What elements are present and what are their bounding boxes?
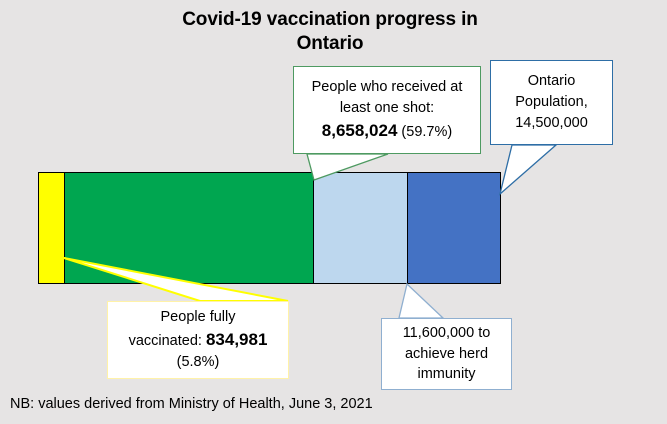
callout-herd-line-3: immunity — [417, 366, 475, 382]
callout-population-line-3: 14,500,000 — [515, 115, 588, 131]
callout-one-shot: People who received at least one shot: 8… — [293, 66, 481, 154]
bar-segment-remaining-population — [407, 172, 501, 284]
tail-herd-immunity — [399, 284, 443, 318]
tail-population — [500, 145, 556, 194]
callout-herd-line-1: 11,600,000 to — [403, 325, 491, 341]
callout-fully-line-2-prefix: vaccinated: — [129, 333, 206, 349]
title-line-1: Covid-19 vaccination progress in — [182, 9, 478, 30]
title-line-2: Ontario — [297, 33, 364, 54]
callout-fully-vaccinated: People fully vaccinated: 834,981 (5.8%) — [107, 301, 289, 379]
infographic-canvas: Covid-19 vaccination progress in Ontario… — [0, 0, 667, 424]
callout-herd-immunity: 11,600,000 to achieve herd immunity — [381, 318, 512, 390]
callout-population-line-2: Population, — [515, 94, 588, 110]
callout-one-shot-value: 8,658,024 — [322, 121, 398, 140]
callout-one-shot-line-1: People who received at — [312, 79, 463, 95]
callout-herd-line-2: achieve herd — [405, 346, 488, 362]
bar-segment-herd-immunity-gap — [313, 172, 408, 284]
bar-segment-fully-vaccinated — [38, 172, 65, 284]
stacked-bar — [38, 172, 500, 284]
callout-ontario-population: Ontario Population, 14,500,000 — [490, 60, 613, 145]
footnote-source-note: NB: values derived from Ministry of Heal… — [10, 396, 373, 412]
callout-fully-line-1: People fully — [161, 309, 236, 325]
bar-segment-one-shot — [64, 172, 314, 284]
callout-fully-value: 834,981 — [206, 330, 267, 349]
callout-one-shot-percent: (59.7%) — [397, 124, 452, 140]
callout-one-shot-line-2: least one shot: — [340, 100, 434, 116]
callout-fully-percent: (5.8%) — [177, 354, 220, 370]
page-title: Covid-19 vaccination progress in Ontario — [120, 8, 540, 57]
callout-population-line-1: Ontario — [528, 73, 576, 89]
